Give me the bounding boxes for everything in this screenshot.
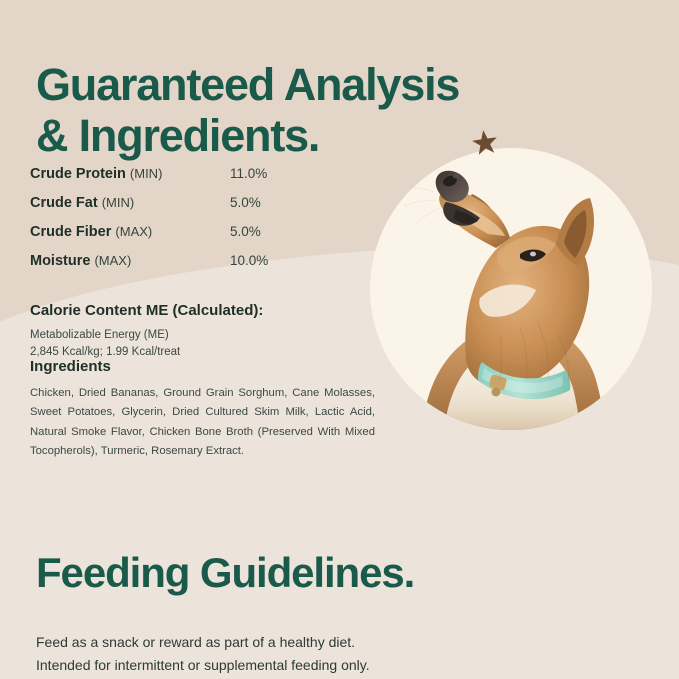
- calorie-content-title: Calorie Content ME (Calculated):: [30, 302, 360, 319]
- analysis-label: Crude Fat (MIN): [30, 195, 230, 211]
- ingredients-title: Ingredients: [30, 358, 375, 375]
- calorie-energy-line: Metabolizable Energy (ME): [30, 327, 360, 344]
- dog-photo: [370, 148, 652, 430]
- page-title: Guaranteed Analysis & Ingredients.: [36, 60, 556, 161]
- guaranteed-analysis-table: Crude Protein (MIN) 11.0% Crude Fat (MIN…: [30, 166, 350, 282]
- analysis-qualifier: (MIN): [102, 195, 135, 210]
- analysis-value: 5.0%: [230, 224, 261, 239]
- analysis-qualifier: (MAX): [94, 253, 131, 268]
- shiba-inu-illustration: [370, 148, 652, 430]
- analysis-label: Moisture (MAX): [30, 253, 230, 269]
- ingredients-block: Ingredients Chicken, Dried Bananas, Grou…: [30, 358, 375, 462]
- analysis-label: Crude Fiber (MAX): [30, 224, 230, 240]
- analysis-nutrient-name: Crude Fat: [30, 195, 98, 211]
- page-title-line-2: & Ingredients.: [36, 111, 556, 161]
- analysis-value: 5.0%: [230, 195, 261, 210]
- feeding-guidelines-line-2: Intended for intermittent or supplementa…: [36, 654, 596, 677]
- analysis-qualifier: (MAX): [115, 224, 152, 239]
- feeding-guidelines-block: Feeding Guidelines. Feed as a snack or r…: [36, 515, 596, 676]
- table-row: Crude Protein (MIN) 11.0%: [30, 166, 350, 195]
- table-row: Crude Fiber (MAX) 5.0%: [30, 224, 350, 253]
- analysis-label: Crude Protein (MIN): [30, 166, 230, 182]
- feeding-guidelines-body: Feed as a snack or reward as part of a h…: [36, 631, 596, 676]
- ingredients-list: Chicken, Dried Bananas, Ground Grain Sor…: [30, 384, 375, 462]
- table-row: Crude Fat (MIN) 5.0%: [30, 195, 350, 224]
- analysis-nutrient-name: Moisture: [30, 253, 90, 269]
- analysis-nutrient-name: Crude Protein: [30, 166, 126, 182]
- analysis-qualifier: (MIN): [130, 166, 163, 181]
- product-info-page: Guaranteed Analysis & Ingredients. Crude…: [0, 0, 679, 679]
- analysis-value: 11.0%: [230, 166, 267, 181]
- feeding-guidelines-line-1: Feed as a snack or reward as part of a h…: [36, 631, 596, 654]
- feeding-guidelines-title: Feeding Guidelines.: [36, 550, 596, 596]
- page-title-line-1: Guaranteed Analysis: [36, 60, 556, 110]
- analysis-nutrient-name: Crude Fiber: [30, 224, 111, 240]
- table-row: Moisture (MAX) 10.0%: [30, 253, 350, 282]
- analysis-value: 10.0%: [230, 253, 268, 268]
- calorie-content-block: Calorie Content ME (Calculated): Metabol…: [30, 302, 360, 361]
- hero-image-block: [370, 148, 652, 430]
